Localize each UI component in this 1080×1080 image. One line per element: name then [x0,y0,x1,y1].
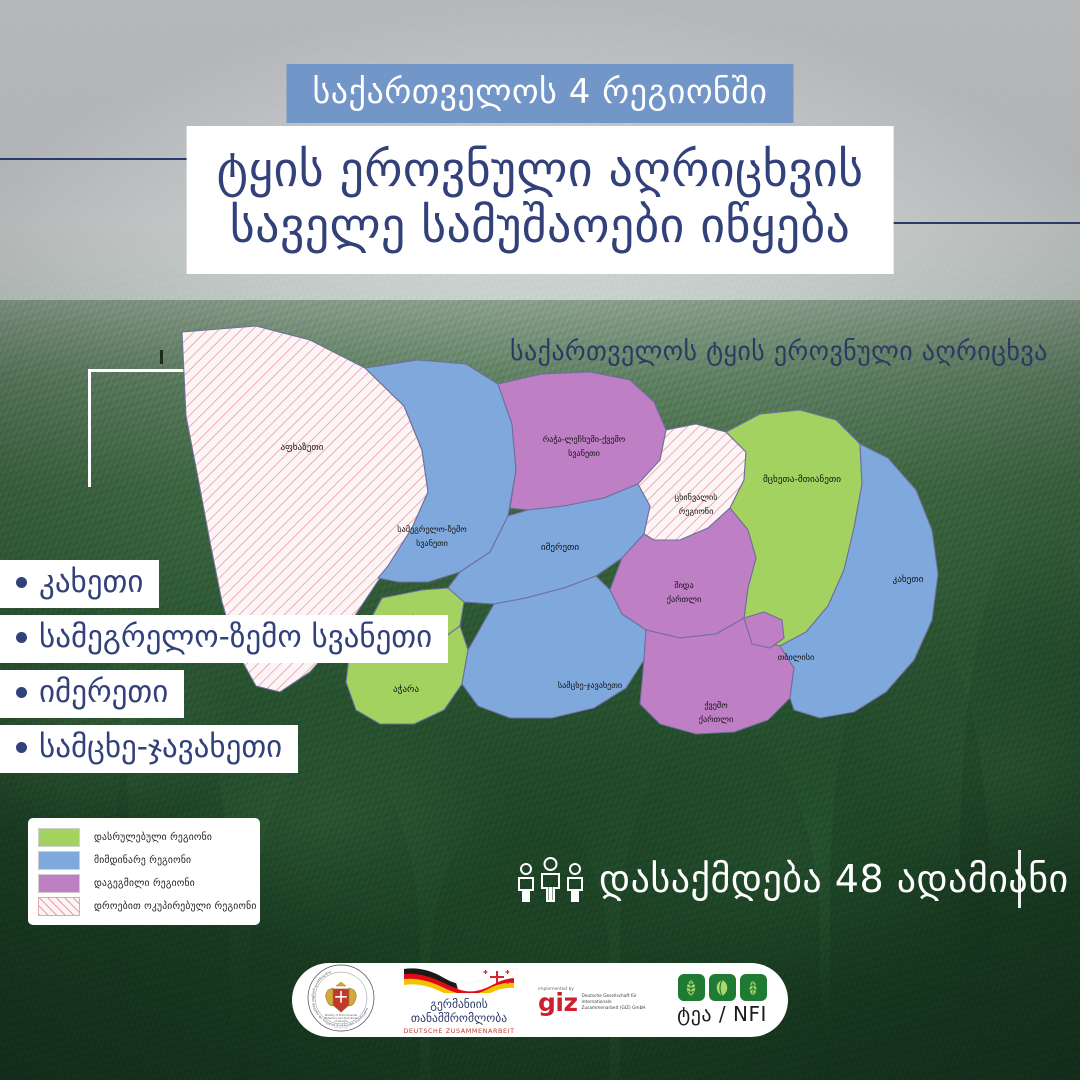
list-item: სამცხე-ჯავახეთი [0,725,298,773]
giz-full-name: Deutsche Gesellschaft für Internationale… [582,994,646,1011]
list-item-label: სამცხე-ჯავახეთი [39,729,282,765]
nfi-label: ტეა / NFI [656,1002,788,1026]
nfi-leaf-icons [656,974,788,1001]
legend-item-occupied: დროებით ოკუპირებული რეგიონი [38,896,250,916]
legend-item-planned: დაგეგმილი რეგიონი [38,873,250,893]
map-label-tskhinvali-b: რეგიონი [679,506,714,516]
nfi-logo: ტეა / NFI [656,974,788,1026]
legend-swatch-green [38,828,80,847]
map-label-abkhazeti: აფხაზეთი [280,442,323,453]
kicker-banner: საქართველოს 4 რეგიონში [286,64,793,123]
german-cooperation-logo: გერმანიის თანამშრომლობა DEUTSCHE ZUSAMME… [396,965,522,1034]
map-label-imereti: იმერეთი [541,542,580,553]
giz-wordmark: giz [538,993,578,1013]
legend-label-done: დასრულებული რეგიონი [94,832,212,843]
map-label-racha-a: რაჭა-ლეჩხუმი-ქვემო [543,434,626,444]
ministry-sub-3: of Georgia [334,1019,347,1023]
map-label-mtskheta-mtianeti: მცხეთა-მთიანეთი [763,474,841,485]
bullet-dot-icon [16,577,27,588]
person-icon [539,856,562,902]
leaf-icon [740,974,767,1001]
german-georgian-flag-ribbon [400,965,518,993]
legend-swatch-hatched [38,897,80,916]
map-label-samegrelo-a: სამეგრელო-ზემო [397,524,467,534]
map-label-racha-b: სვანეთი [568,448,600,458]
map-label-shida-kartli-b: ქართლი [667,594,701,604]
legend-item-done: დასრულებული რეგიონი [38,827,250,847]
map-label-tskhinvali-a: ცხინვალის [674,492,717,502]
employment-stat-text: დასაქმდება 48 ადამიანი [599,857,1069,901]
map-label-shida-kartli-a: შიდა [674,580,693,590]
legend-swatch-blue [38,851,80,870]
map-label-kvemo-kartli-b: ქართლი [699,714,733,724]
person-icon [565,862,585,902]
employment-stat: დასაქმდება 48 ადამიანი [516,856,1069,902]
bullet-dot-icon [16,687,27,698]
legend-label-occupied: დროებით ოკუპირებული რეგიონი [94,901,257,912]
page-title: ტყის ეროვნული აღრიცხვის საველე სამუშაოებ… [187,126,894,274]
map-legend: დასრულებული რეგიონი მიმდინარე რეგიონი და… [28,818,260,925]
map-label-samegrelo-b: სვანეთი [416,538,448,548]
selected-regions-list: კახეთი სამეგრელო-ზემო სვანეთი იმერეთი სა… [0,560,448,780]
list-item: სამეგრელო-ზემო სვანეთი [0,615,448,663]
german-cooperation-label-ka: გერმანიის თანამშრომლობა [396,998,522,1024]
map-label-kakheti: კახეთი [893,574,924,585]
map-label-kvemo-kartli-a: ქვემო [704,700,728,710]
person-icon [516,862,536,902]
map-label-samtskhe-javakheti: სამცხე-ჯავახეთი [558,680,622,690]
list-item-label: იმერეთი [39,674,168,710]
legend-swatch-purple [38,874,80,893]
legend-label-planned: დაგეგმილი რეგიონი [94,878,195,889]
list-item-label: კახეთი [39,564,143,600]
footer-logo-bar: საქართველოს გარემოს დაცვისა და სოფლის მე… [292,963,788,1037]
legend-label-current: მიმდინარე რეგიონი [94,855,191,866]
legend-item-current: მიმდინარე რეგიონი [38,850,250,870]
list-item: იმერეთი [0,670,184,718]
list-item: კახეთი [0,560,159,608]
leaf-icon [709,974,736,1001]
bullet-dot-icon [16,742,27,753]
list-item-label: სამეგრელო-ზემო სვანეთი [39,619,432,655]
leaf-icon [678,974,705,1001]
people-icons [516,856,585,902]
headline-line-1: ტყის ეროვნული აღრიცხვის [217,142,864,198]
ministry-emblem: საქართველოს გარემოს დაცვისა და სოფლის მე… [304,963,378,1037]
german-cooperation-label-de: DEUTSCHE ZUSAMMENARBEIT [396,1027,522,1035]
map-label-tbilisi: თბილისი [778,652,815,662]
headline-line-2: საველე სამუშაოები იწყება [217,198,864,254]
giz-logo: implemented by giz Deutsche Gesellschaft… [538,987,646,1013]
bullet-dot-icon [16,632,27,643]
